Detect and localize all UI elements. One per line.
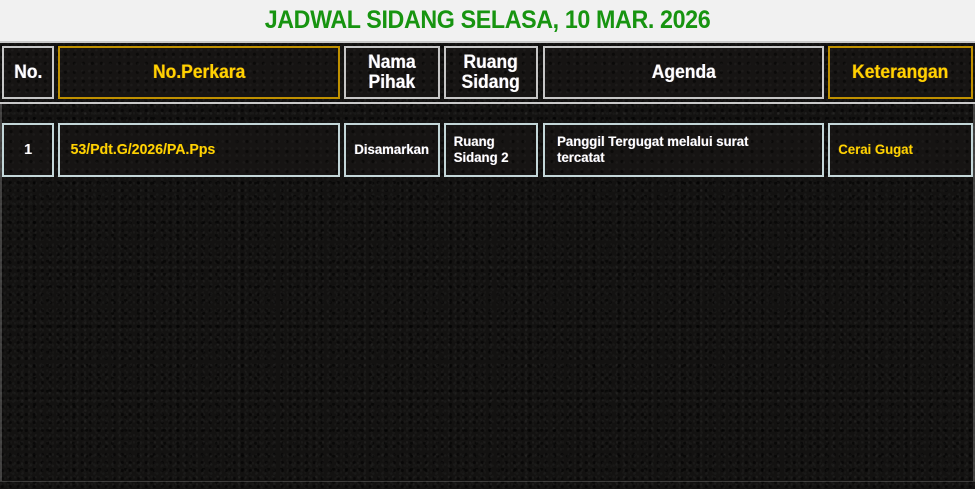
cell-no[interactable]: 1 — [2, 123, 54, 177]
page-title: JADWAL SIDANG SELASA, 10 MAR. 2026 — [34, 5, 941, 35]
left-edge-line — [0, 104, 2, 481]
cell-value-agenda: Panggil Tergugat melalui surat tercatat — [557, 134, 748, 165]
cell-value-pihak: Disamarkan — [355, 142, 430, 158]
cell-agenda[interactable]: Panggil Tergugat melalui surat tercatat — [543, 123, 824, 177]
cell-keterangan[interactable]: Cerai Gugat — [828, 123, 973, 177]
bottom-separator-line — [0, 481, 975, 482]
cell-ruang[interactable]: Ruang Sidang 2 — [444, 123, 538, 177]
column-header-agenda[interactable]: Agenda — [543, 46, 824, 99]
table-row[interactable]: 153/Pdt.G/2026/PA.PpsDisamarkanRuang Sid… — [0, 123, 975, 177]
column-header-label-perkara: No.Perkara — [153, 63, 245, 82]
jadwal-sidang-screen: JADWAL SIDANG SELASA, 10 MAR. 2026 No.No… — [0, 0, 975, 489]
column-header-label-pihak: Nama Pihak — [368, 53, 416, 92]
cell-value-ruang: Ruang Sidang 2 — [454, 134, 509, 165]
cell-value-keterangan: Cerai Gugat — [838, 142, 913, 158]
column-header-pihak[interactable]: Nama Pihak — [344, 46, 440, 99]
column-header-label-keterangan: Keterangan — [852, 63, 948, 82]
column-header-label-ruang: Ruang Sidang — [462, 53, 520, 92]
column-header-no[interactable]: No. — [2, 46, 54, 99]
cell-value-perkara: 53/Pdt.G/2026/PA.Pps — [71, 142, 216, 159]
column-header-perkara[interactable]: No.Perkara — [58, 46, 340, 99]
table-header-row: No.No.PerkaraNama PihakRuang SidangAgend… — [0, 41, 975, 104]
column-header-label-agenda: Agenda — [651, 63, 715, 82]
cell-perkara[interactable]: 53/Pdt.G/2026/PA.Pps — [58, 123, 340, 177]
column-header-keterangan[interactable]: Keterangan — [828, 46, 973, 99]
title-bar: JADWAL SIDANG SELASA, 10 MAR. 2026 — [0, 0, 975, 41]
cell-value-no: 1 — [24, 142, 32, 159]
column-header-label-no: No. — [14, 63, 42, 82]
column-header-ruang[interactable]: Ruang Sidang — [444, 46, 538, 99]
cell-pihak[interactable]: Disamarkan — [344, 123, 440, 177]
